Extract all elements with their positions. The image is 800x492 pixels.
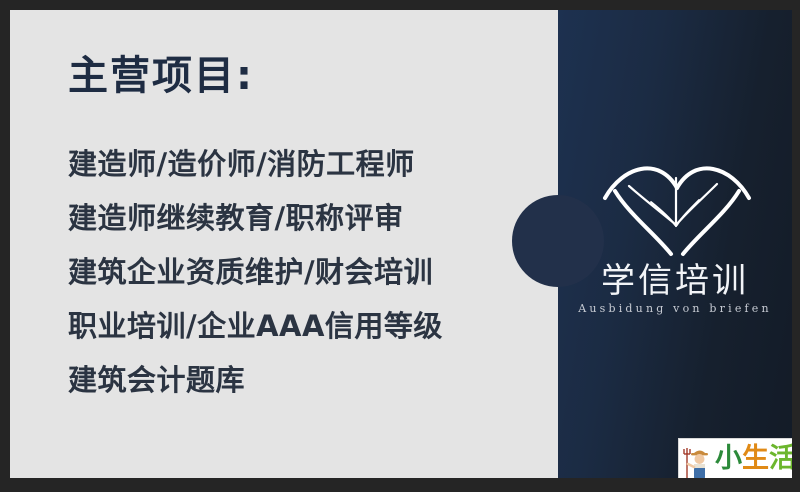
list-item: 建造师继续教育/职称评审 <box>68 204 508 233</box>
list-item: 职业培训/企业AAA信用等级 <box>68 312 508 341</box>
poster-card: 主营项目: 建造师/造价师/消防工程师 建造师继续教育/职称评审 建筑企业资质维… <box>10 10 792 478</box>
list-item: 建造师/造价师/消防工程师 <box>68 150 508 179</box>
watermark-char-3: 活 <box>769 443 792 474</box>
farmer-with-pitchfork-icon <box>683 443 713 478</box>
brand-logo-block: 学信培训 Ausbidung von briefen <box>558 10 792 478</box>
page-title: 主营项目: <box>68 56 254 96</box>
frame-border-left <box>0 0 10 492</box>
list-item: 建筑企业资质维护/财会培训 <box>68 258 508 287</box>
site-watermark: 小生活 www.xbaixing.com <box>678 438 792 478</box>
frame-border-bottom <box>0 478 800 492</box>
services-panel: 主营项目: 建造师/造价师/消防工程师 建造师继续教育/职称评审 建筑企业资质维… <box>10 10 558 478</box>
poster-canvas: 主营项目: 建造师/造价师/消防工程师 建造师继续教育/职称评审 建筑企业资质维… <box>0 0 800 492</box>
watermark-char-1: 小 <box>715 443 742 474</box>
watermark-char-2: 生 <box>742 443 769 474</box>
frame-border-right <box>792 0 800 492</box>
service-list: 建造师/造价师/消防工程师 建造师继续教育/职称评审 建筑企业资质维护/财会培训… <box>68 150 508 420</box>
list-item: 建筑会计题库 <box>68 366 508 395</box>
brand-tagline: Ausbidung von briefen <box>558 302 792 315</box>
brand-name: 学信培训 <box>558 262 792 301</box>
watermark-wordmark: 小生活 <box>715 440 792 478</box>
frame-border-top <box>0 0 800 10</box>
fan-leaf-logo-icon <box>593 158 758 263</box>
